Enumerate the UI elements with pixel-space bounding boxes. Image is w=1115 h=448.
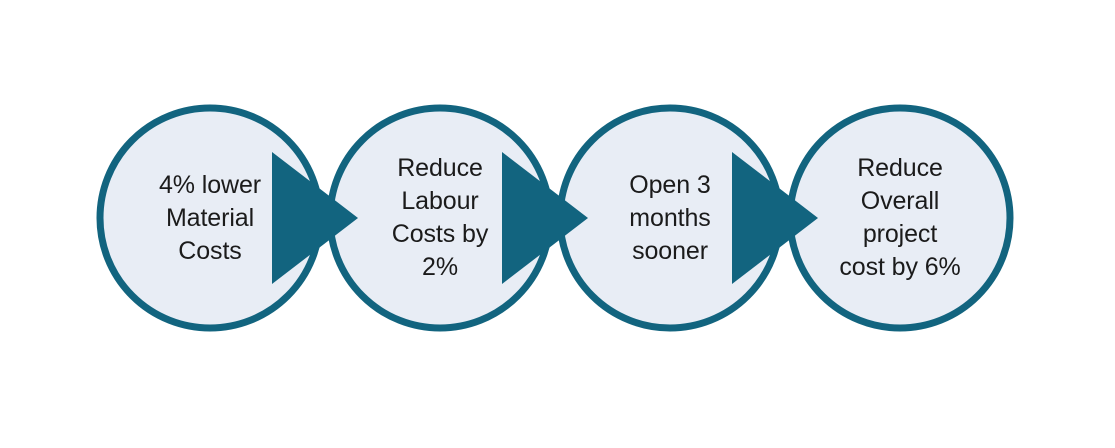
process-flow-diagram: 4% lower Material Costs Reduce Labour Co… [0, 0, 1115, 448]
step-node-3: Open 3 months sooner [557, 105, 783, 331]
step-node-2: Reduce Labour Costs by 2% [327, 105, 553, 331]
step-node-4: Reduce Overall project cost by 6% [787, 105, 1013, 331]
step-label-1: 4% lower Material Costs [124, 169, 296, 268]
step-label-3: Open 3 months sooner [584, 169, 756, 268]
step-node-1: 4% lower Material Costs [97, 105, 323, 331]
step-label-4: Reduce Overall project cost by 6% [814, 152, 986, 284]
step-label-2: Reduce Labour Costs by 2% [354, 152, 526, 284]
